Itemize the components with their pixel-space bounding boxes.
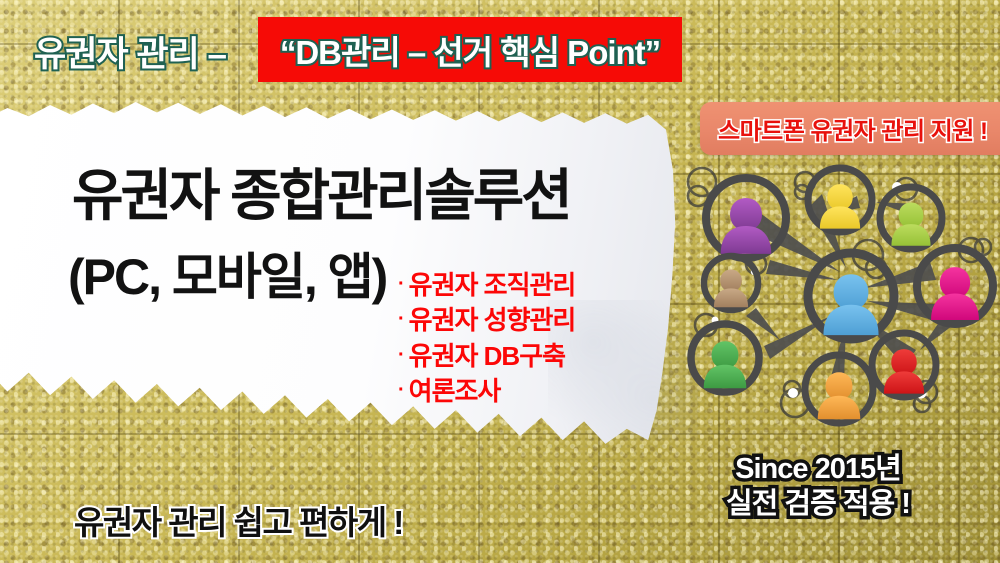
avatar-purple-node bbox=[706, 178, 786, 258]
avatar-lightgreen-node bbox=[880, 187, 942, 249]
bullet-dot-icon: · bbox=[398, 273, 404, 295]
header-banner-text: “DB관리 – 선거 핵심 Point” bbox=[258, 17, 682, 82]
feature-list-item: ·유권자 DB구축 bbox=[398, 339, 575, 374]
feature-label: 여론조사 bbox=[409, 376, 501, 406]
feature-list: ·유권자 조직관리 ·유권자 성향관리 ·유권자 DB구축 ·여론조사 bbox=[398, 268, 575, 409]
avatar-red-node bbox=[872, 333, 936, 397]
header-left-title: 유권자 관리 – bbox=[34, 26, 226, 77]
page-title: 유권자 종합관리솔루션 bbox=[72, 168, 570, 224]
network-svg bbox=[668, 150, 1000, 440]
since-badge: Since 2015년 실전 검증 적용 ! bbox=[726, 452, 910, 523]
bullet-dot-icon: · bbox=[398, 344, 404, 366]
feature-label: 유권자 DB구축 bbox=[409, 341, 565, 371]
since-badge-line-1: Since 2015년 bbox=[726, 452, 910, 487]
poster-canvas: 유권자 관리 – “DB관리 – 선거 핵심 Point” 스마트폰 유권자 관… bbox=[0, 0, 1000, 563]
page-subtitle: (PC, 모바일, 앱) bbox=[68, 252, 386, 302]
people-network-diagram bbox=[668, 150, 1000, 445]
since-badge-line-2: 실전 검증 적용 ! bbox=[726, 487, 910, 522]
footer-slogan: 유권자 관리 쉽고 편하게 ! bbox=[74, 496, 403, 544]
feature-list-item: ·유권자 조직관리 bbox=[398, 268, 575, 303]
feature-list-item: ·여론조사 bbox=[398, 374, 575, 409]
bullet-dot-icon: · bbox=[398, 308, 404, 330]
feature-label: 유권자 조직관리 bbox=[409, 270, 576, 300]
smartphone-support-badge-label: 스마트폰 유권자 관리 지원 ! bbox=[700, 102, 1000, 155]
avatar-magenta-node bbox=[917, 248, 993, 324]
bullet-dot-icon: · bbox=[398, 379, 404, 401]
avatar-tan-node bbox=[704, 256, 758, 310]
center-avatar-node bbox=[808, 253, 894, 339]
header-red-banner: “DB관리 – 선거 핵심 Point” bbox=[258, 17, 682, 82]
feature-list-item: ·유권자 성향관리 bbox=[398, 303, 575, 338]
feature-label: 유권자 성향관리 bbox=[409, 305, 576, 335]
smartphone-support-badge: 스마트폰 유권자 관리 지원 ! bbox=[700, 102, 1000, 155]
avatar-green-node bbox=[691, 324, 759, 392]
